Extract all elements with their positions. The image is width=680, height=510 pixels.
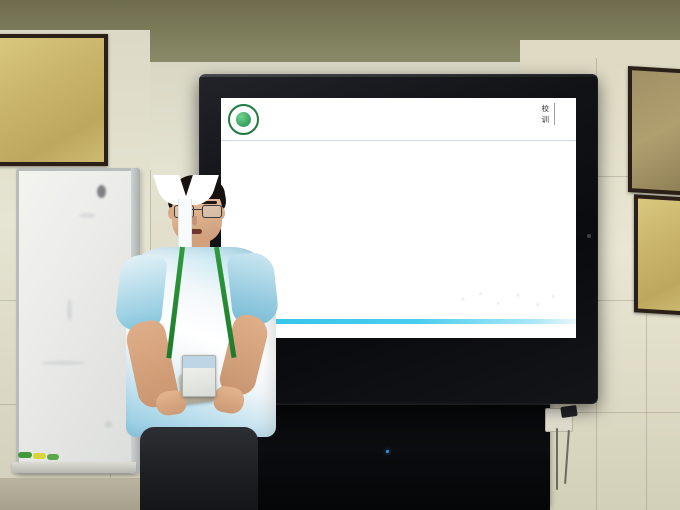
glasses-bridge [192, 209, 202, 210]
presenter [118, 175, 288, 510]
cable [556, 428, 558, 490]
sleeve-left [114, 253, 168, 333]
yellow-marker [33, 453, 46, 459]
shirt-placket [178, 199, 192, 247]
tile-line [646, 300, 647, 510]
school-motto: 校训 [542, 103, 561, 126]
power-plug [560, 405, 577, 418]
award-plaque-right-bottom [634, 194, 680, 316]
tv-power-led [386, 450, 389, 453]
nose [192, 216, 197, 225]
award-plaque-right-top [628, 66, 680, 196]
award-plaque-left [0, 34, 108, 166]
badge-header-strip [183, 356, 215, 368]
slide-watermark [452, 288, 562, 316]
bezel-highlight [199, 74, 598, 77]
green-marker-2 [47, 454, 59, 460]
green-marker [18, 452, 32, 458]
lens-right [202, 205, 222, 218]
trousers [140, 427, 258, 510]
bezel-dot-right [587, 234, 591, 238]
id-badge [182, 355, 216, 397]
motto-label: 校训 [542, 103, 550, 126]
slide-header: 校训 [221, 98, 576, 141]
school-emblem-icon [228, 104, 259, 135]
process-step-row [261, 144, 561, 200]
motto-divider [554, 103, 555, 125]
classroom-presentation-photo: 校训 [0, 0, 680, 510]
